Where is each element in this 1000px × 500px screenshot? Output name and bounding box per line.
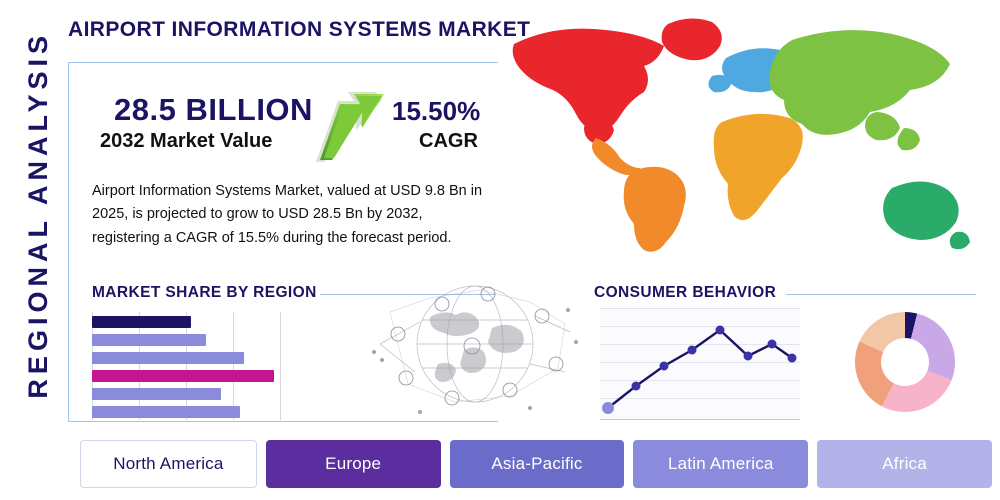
- region-chip-label: Asia-Pacific: [491, 454, 582, 474]
- hero-stats: 28.5 BILLION 2032 Market Value 15.50% CA…: [92, 92, 512, 172]
- map-region-north-america: [513, 29, 664, 144]
- market-share-bar-chart: [92, 312, 282, 420]
- description-text: Airport Information Systems Market, valu…: [92, 180, 492, 250]
- region-chip-label: Africa: [882, 454, 927, 474]
- bar-5: [92, 406, 240, 418]
- line-series: [600, 308, 800, 420]
- map-region-africa: [714, 114, 803, 220]
- map-region-south-america: [624, 167, 686, 252]
- side-label-text: REGIONAL ANALYSIS: [23, 31, 54, 399]
- region-chip-north-america[interactable]: North America: [80, 440, 257, 488]
- bar-3: [92, 370, 274, 382]
- world-map: [500, 10, 990, 275]
- market-value-caption: 2032 Market Value: [100, 130, 272, 153]
- cagr-value: 15.50%: [392, 96, 480, 127]
- page-title: AIRPORT INFORMATION SYSTEMS MARKET: [68, 18, 530, 42]
- bar-1: [92, 334, 206, 346]
- region-chip-label: Latin America: [668, 454, 774, 474]
- bar-2: [92, 352, 244, 364]
- region-chip-label: North America: [113, 454, 223, 474]
- bar-4: [92, 388, 221, 400]
- side-label: REGIONAL ANALYSIS: [10, 0, 66, 430]
- market-value: 28.5 BILLION: [114, 92, 313, 128]
- consumer-behavior-heading: CONSUMER BEHAVIOR: [594, 284, 776, 302]
- consumer-behavior-donut-chart: [855, 312, 955, 412]
- bar-0: [92, 316, 191, 328]
- region-chip-label: Europe: [325, 454, 381, 474]
- region-chip-africa[interactable]: Africa: [817, 440, 992, 488]
- globe-network-icon: [360, 272, 590, 422]
- region-chip-europe[interactable]: Europe: [266, 440, 441, 488]
- consumer-behavior-rule: [786, 294, 976, 295]
- consumer-behavior-line-chart: [600, 308, 800, 420]
- growth-arrow-icon: [310, 88, 390, 166]
- map-region-central-america: [592, 138, 640, 175]
- map-region-greenland: [662, 18, 722, 60]
- map-region-oceania: [883, 181, 970, 249]
- cagr-caption: CAGR: [419, 130, 478, 153]
- region-chip-asia-pacific[interactable]: Asia-Pacific: [450, 440, 625, 488]
- region-chip-latin-america[interactable]: Latin America: [633, 440, 808, 488]
- market-share-heading: MARKET SHARE BY REGION: [92, 284, 317, 302]
- region-chip-bar: North America Europe Asia-Pacific Latin …: [80, 440, 992, 488]
